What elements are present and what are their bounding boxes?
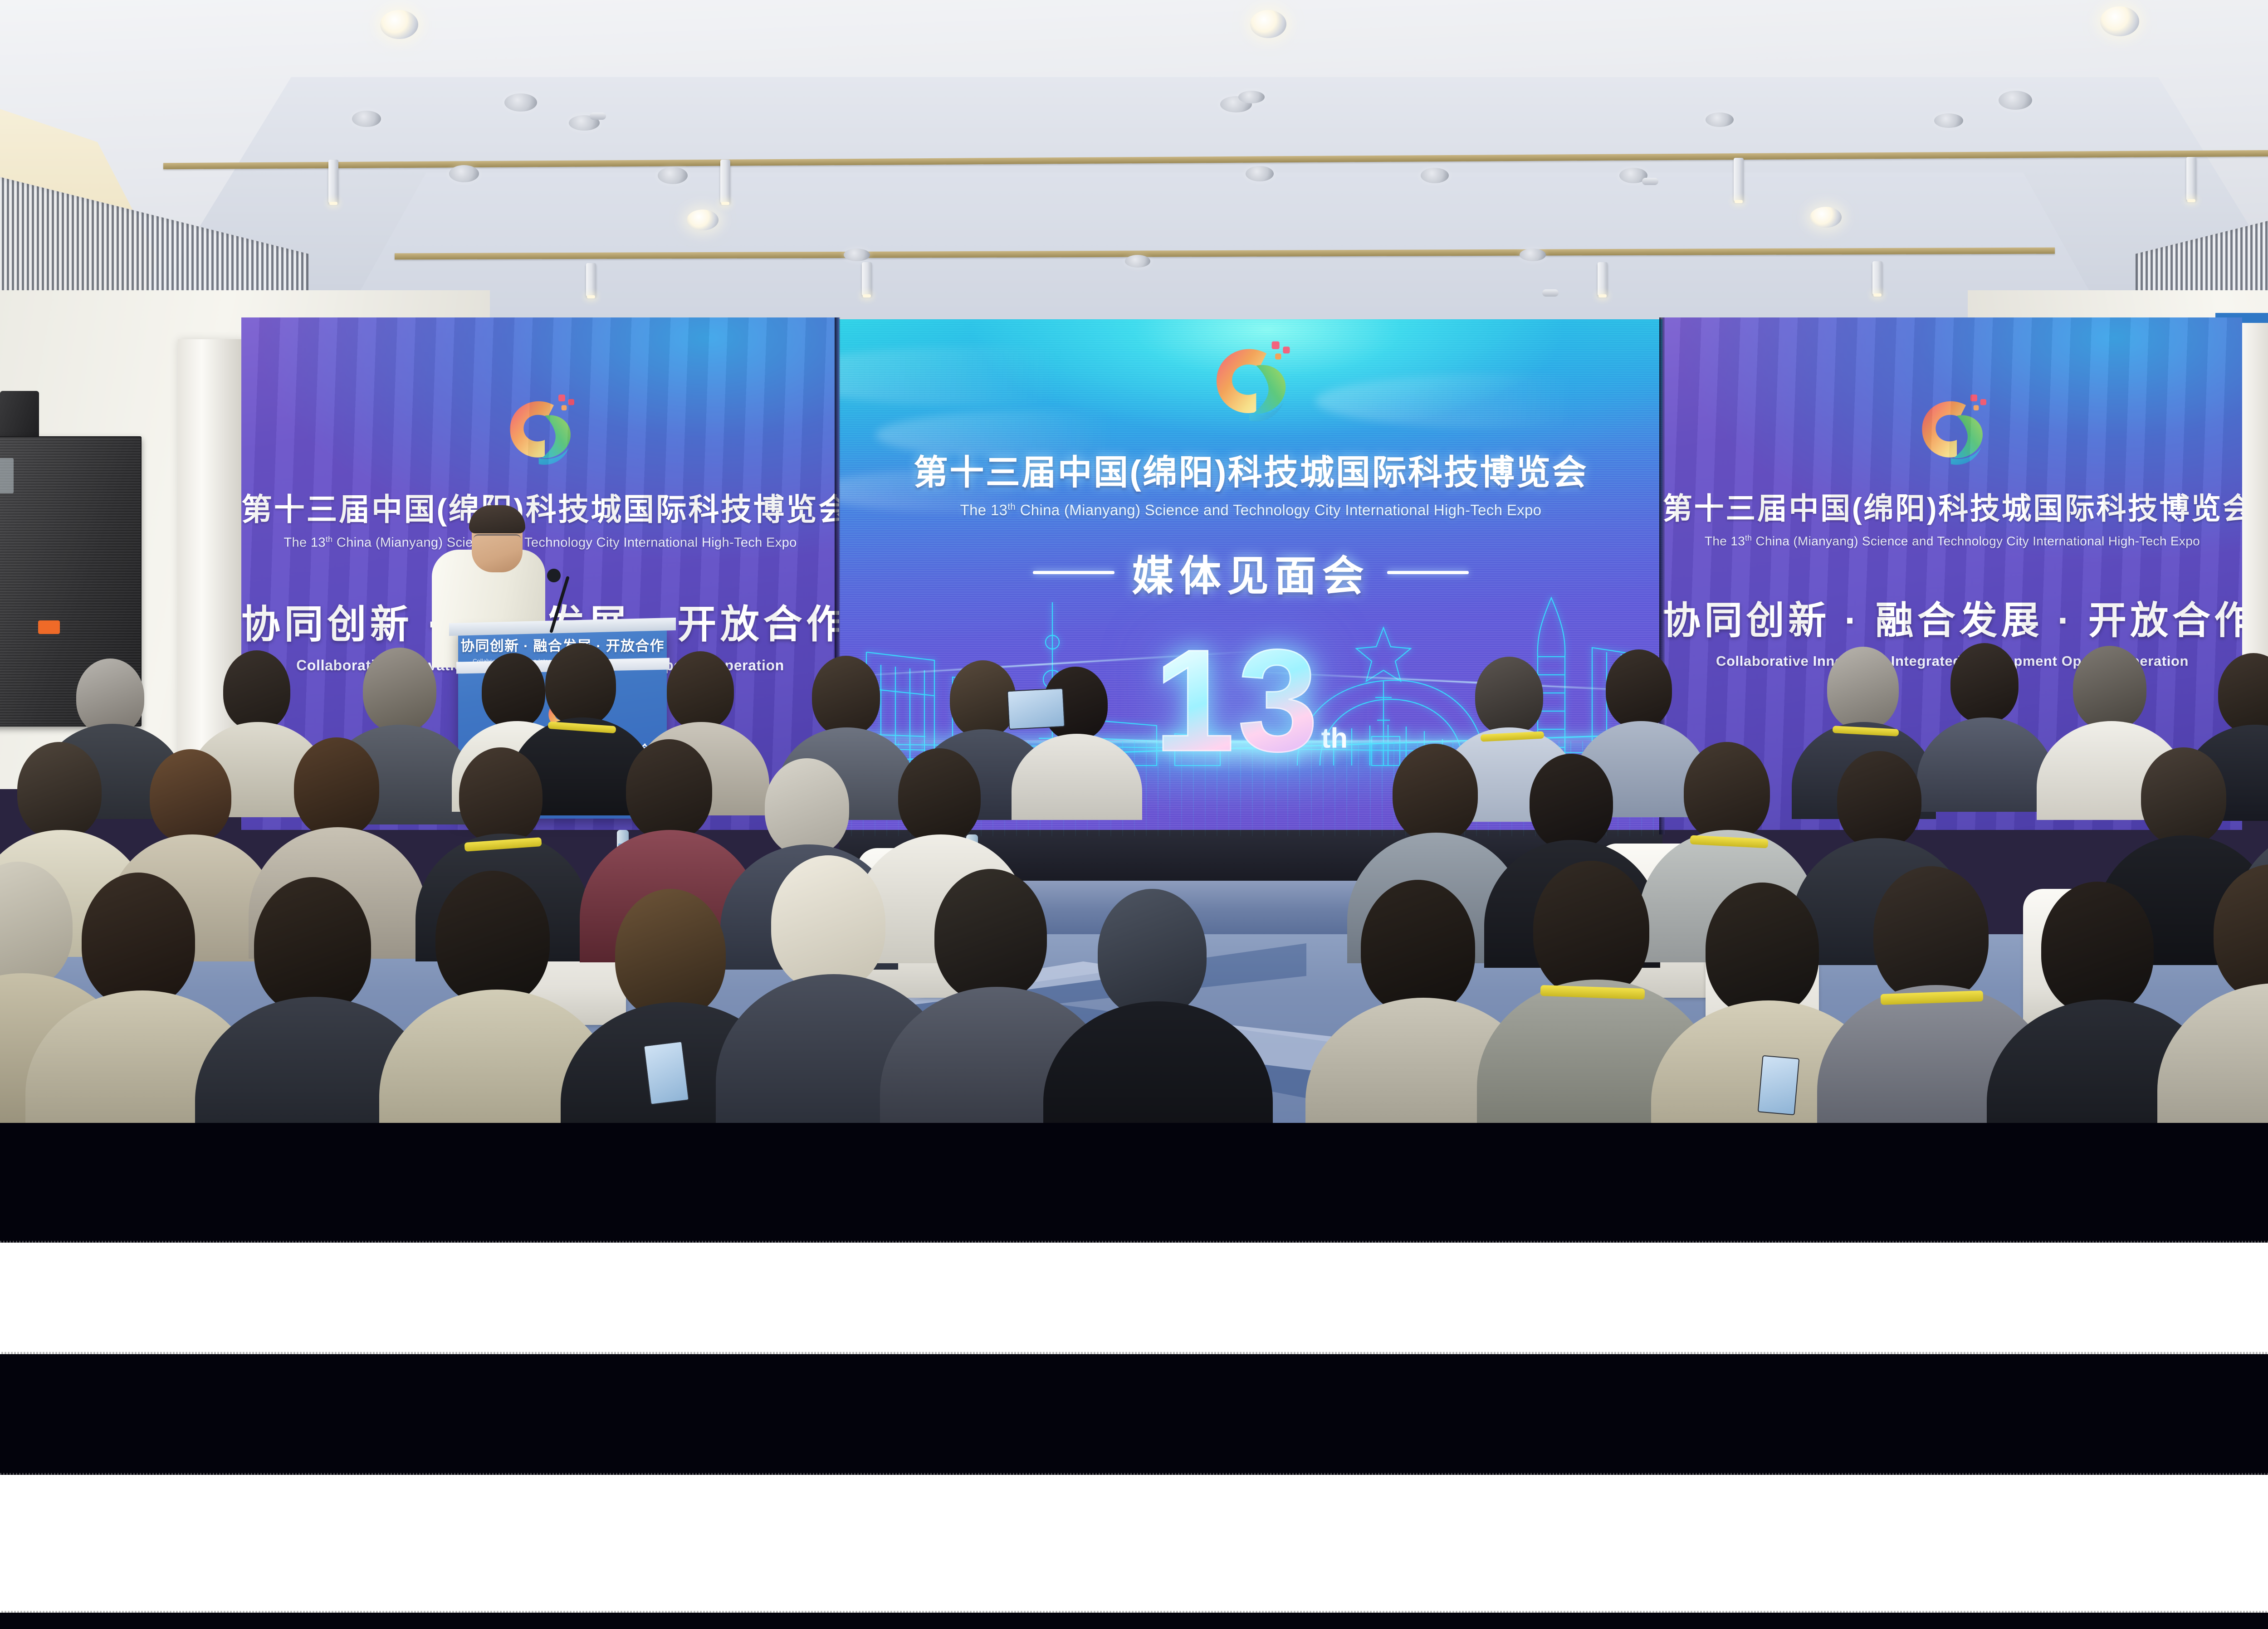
downlight-7 <box>1999 91 2032 110</box>
speaker-spec-label <box>0 458 14 493</box>
downlight-12 <box>658 167 688 184</box>
audience-head <box>1361 880 1475 1014</box>
downlight-20 <box>1520 249 1546 261</box>
audience-head <box>1706 883 1819 1016</box>
jbl-logo-badge <box>38 620 60 634</box>
banner-left-title-en-prefix: The 13 <box>283 536 325 550</box>
banner-right-title-cn: 第十三届中国(绵阳)科技城国际科技博览会 <box>1662 484 2242 528</box>
audience-head <box>1606 649 1672 728</box>
downlight-13 <box>687 210 719 230</box>
session-rule-right <box>1387 571 1469 574</box>
audience-shoulders <box>1917 717 2055 812</box>
banner-right-title-en-rest: China (Mianyang) Science and Technology … <box>1752 534 2200 548</box>
attendee-tablet <box>1007 688 1065 730</box>
downlight-18 <box>1238 91 1265 103</box>
audience-head <box>898 748 981 844</box>
audience-head <box>459 747 543 844</box>
downlight-3 <box>2100 6 2139 36</box>
audience-head <box>1873 866 1989 1002</box>
banner-right-title-en-sup: th <box>1745 533 1752 542</box>
audience-head <box>1475 657 1543 735</box>
audience-head <box>17 742 102 839</box>
audience-head <box>1098 889 1207 1017</box>
banner-left-title-en-rest: China (Mianyang) Science and Technology … <box>333 536 797 550</box>
led-session-title: 媒体见面会 <box>1132 542 1369 603</box>
pendant-light-7 <box>1598 262 1608 296</box>
audience-head <box>1393 744 1478 842</box>
audience-head <box>1837 751 1921 848</box>
audience-area <box>0 635 2268 1123</box>
downlight-14 <box>1246 166 1274 181</box>
downlight-1 <box>380 10 418 39</box>
pendant-light-6 <box>862 262 872 296</box>
expo-logo-icon <box>1905 385 2000 476</box>
band-white-1 <box>0 1243 2268 1354</box>
conference-photo: 第十三届中国(绵阳)科技城国际科技博览会 The 13th China (Mia… <box>0 0 2268 1123</box>
audience-head <box>2041 882 2154 1014</box>
audience-head <box>545 643 616 726</box>
audience-head <box>765 758 849 855</box>
downlight-17 <box>1810 207 1842 228</box>
pendant-light-5 <box>586 263 596 297</box>
microphone-head <box>547 569 561 582</box>
pendant-light-1 <box>328 160 338 203</box>
audience-head <box>2141 747 2226 845</box>
audience-head <box>771 855 885 990</box>
led-title-cn: 第十三届中国(绵阳)科技城国际科技博览会 <box>839 444 1662 494</box>
audience-head <box>82 873 195 1007</box>
band-black-1 <box>0 1123 2268 1243</box>
audience-head <box>615 889 726 1019</box>
smoke-detector-2 <box>1542 289 1559 297</box>
audience-head <box>1950 643 2019 723</box>
band-white-2 <box>0 1475 2268 1613</box>
attendee-phone <box>1758 1055 1800 1116</box>
session-rule-left <box>1033 571 1114 574</box>
banner-left-title-en: The 13th China (Mianyang) Science and Te… <box>241 535 839 551</box>
downlight-4 <box>504 93 537 112</box>
speaker-cabinet-top <box>0 391 39 436</box>
audience-head <box>1533 861 1649 997</box>
audience-head <box>626 739 712 840</box>
pendant-light-8 <box>1872 261 1882 295</box>
audience-head <box>1530 754 1613 850</box>
downlight-11 <box>449 165 479 182</box>
pendant-light-4 <box>2186 157 2196 200</box>
audience-head <box>812 656 880 736</box>
led-title-en-prefix: The 13 <box>960 502 1008 518</box>
downlight-9 <box>1706 112 1734 127</box>
banner-left-title-cn: 第十三届中国(绵阳)科技城国际科技博览会 <box>241 484 839 529</box>
pendant-light-2 <box>720 160 730 203</box>
downlight-15 <box>1421 168 1449 183</box>
presenter-glasses <box>474 534 521 543</box>
audience-head <box>150 749 231 843</box>
led-title-en: The 13th China (Mianyang) Science and Te… <box>839 502 1662 519</box>
band-black-3 <box>0 1613 2268 1629</box>
audience-head <box>950 660 1016 737</box>
audience-head <box>223 650 290 730</box>
audience-shoulders <box>2157 983 2268 1123</box>
led-title-en-sup: th <box>1007 502 1016 512</box>
audience-head <box>2073 646 2146 730</box>
pendant-light-3 <box>1734 158 1744 201</box>
audience-head <box>435 871 550 1005</box>
led-title-en-rest: China (Mianyang) Science and Technology … <box>1016 502 1541 518</box>
audience-head <box>2218 653 2268 734</box>
downlight-8 <box>1934 113 1963 128</box>
smoke-detector-1 <box>1642 178 1658 185</box>
audience-head <box>934 869 1047 1001</box>
audience-head <box>482 653 545 728</box>
expo-logo-icon <box>493 385 588 476</box>
banner-right-title-en: The 13th China (Mianyang) Science and Te… <box>1662 533 2242 548</box>
banner-right-title-en-prefix: The 13 <box>1705 534 1745 548</box>
audience-head <box>1684 742 1770 841</box>
audience-head <box>76 658 144 735</box>
audience-head <box>1827 647 1899 729</box>
smoke-detector-3 <box>590 112 606 120</box>
audience-head <box>254 877 371 1014</box>
audience-head <box>294 737 379 837</box>
band-black-2 <box>0 1354 2268 1475</box>
banner-left-title-en-sup: th <box>326 535 333 544</box>
downlight-21 <box>1125 255 1150 268</box>
audience-head <box>363 648 436 732</box>
downlight-5 <box>352 111 381 127</box>
audience-head <box>667 651 734 729</box>
attendee-phone <box>643 1041 689 1105</box>
downlight-2 <box>1250 10 1286 38</box>
downlight-19 <box>844 249 870 261</box>
expo-logo-icon <box>1196 331 1306 434</box>
screenshot-root: 第十三届中国(绵阳)科技城国际科技博览会 The 13th China (Mia… <box>0 0 2268 1629</box>
